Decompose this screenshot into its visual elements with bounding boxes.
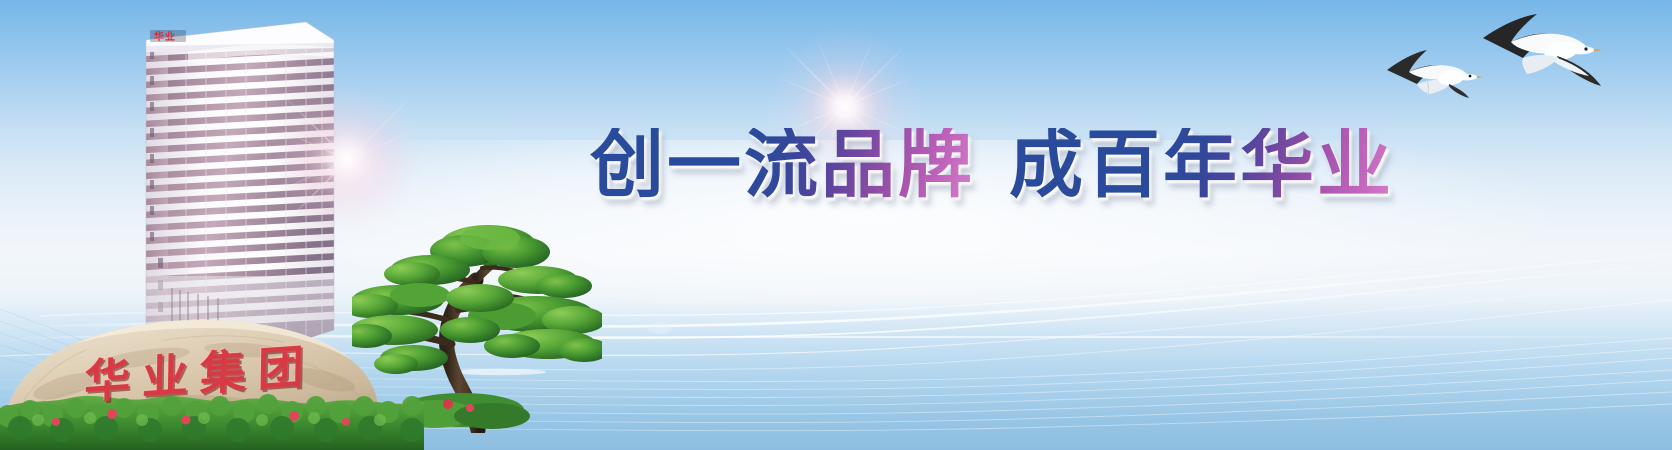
seagulls-image	[1365, 4, 1665, 119]
office-tower-image: 华业	[128, 18, 343, 348]
headline-phrase-1: 创一流品牌	[590, 128, 975, 202]
svg-text:华业: 华业	[154, 30, 176, 43]
hero-banner: 华业	[0, 0, 1672, 450]
company-stone-monument	[0, 300, 424, 450]
headline-slogan: 创一流品牌成百年华业	[590, 128, 1394, 202]
seagull-icon	[1387, 50, 1483, 98]
seagull-icon	[1483, 14, 1602, 86]
headline-phrase-2: 成百年华业	[1009, 128, 1394, 202]
